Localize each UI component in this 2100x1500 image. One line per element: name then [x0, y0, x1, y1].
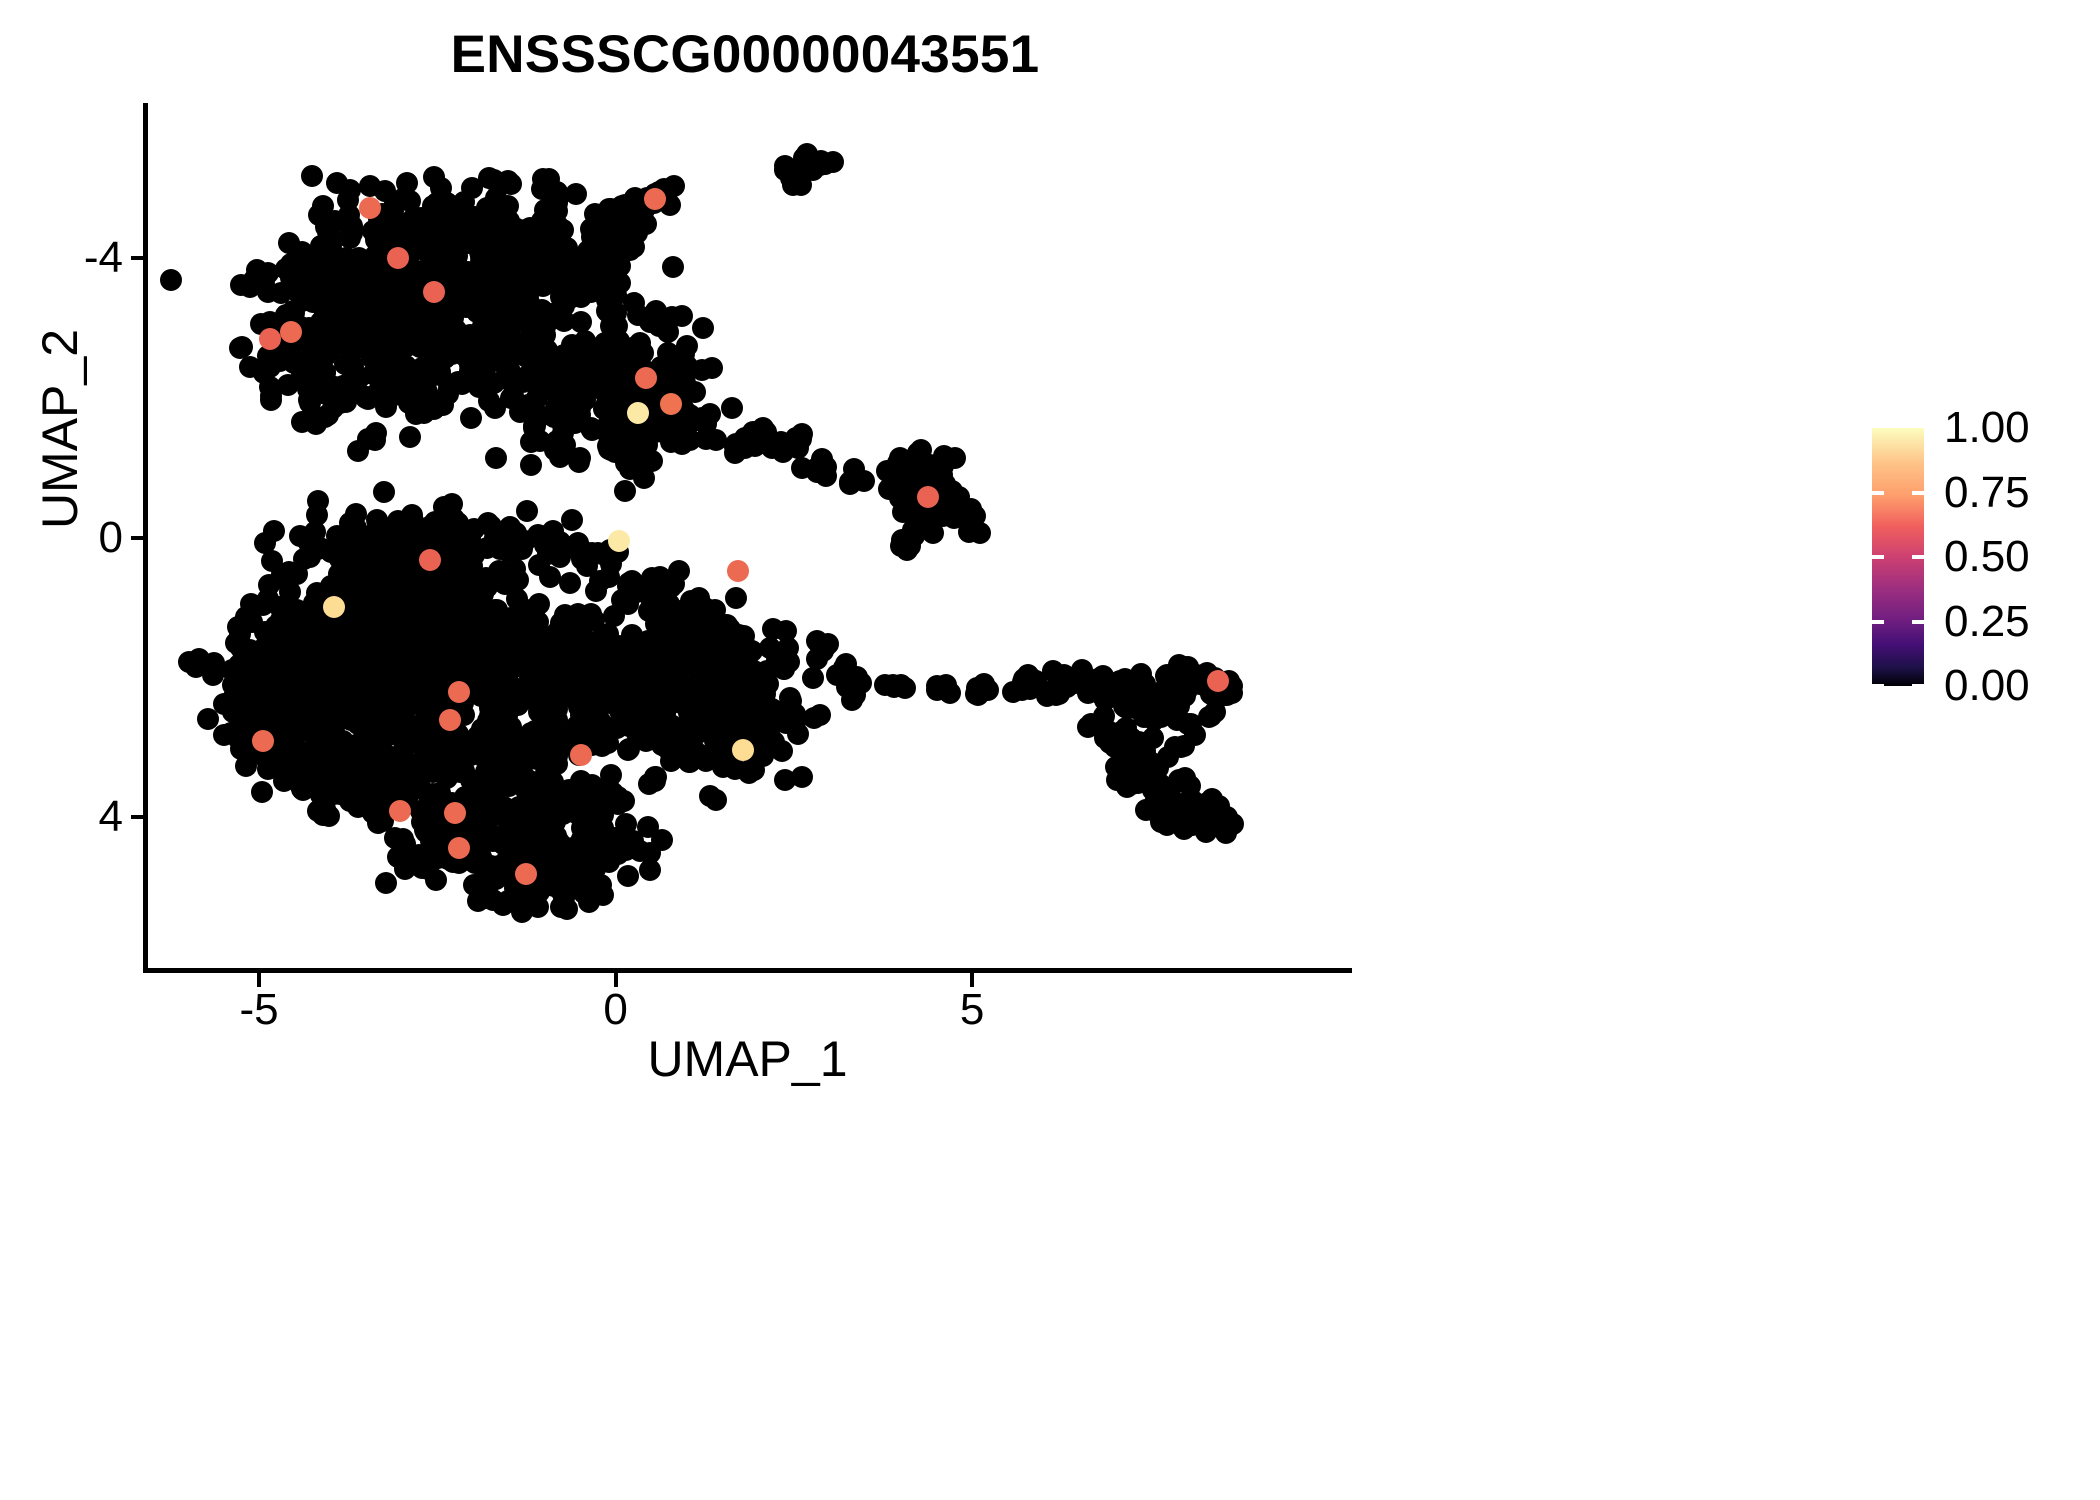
scatter-point: [635, 367, 657, 389]
scatter-point: [478, 352, 500, 374]
scatter-point: [373, 481, 395, 503]
scatter-point: [588, 805, 610, 827]
scatter-point: [391, 776, 413, 798]
scatter-point: [692, 317, 714, 339]
scatter-point: [607, 786, 629, 808]
scatter-point: [375, 396, 397, 418]
scatter-point: [260, 389, 282, 411]
scatter-point: [558, 877, 580, 899]
scatter-point: [596, 392, 618, 414]
scatter-point: [482, 204, 504, 226]
scatter-point: [412, 216, 434, 238]
scatter-point: [644, 766, 666, 788]
scatter-point: [317, 343, 339, 365]
scatter-point: [448, 681, 470, 703]
scatter-point: [1170, 736, 1192, 758]
scatter-point: [360, 346, 382, 368]
scatter-point: [353, 754, 375, 776]
scatter-point: [280, 321, 302, 343]
scatter-point: [286, 272, 308, 294]
scatter-point: [399, 426, 421, 448]
x-tick-label: -5: [199, 988, 319, 1032]
scatter-point: [203, 652, 225, 674]
colorbar-tick-label: 0.75: [1944, 471, 2094, 515]
scatter-point: [383, 196, 405, 218]
scatter-point: [732, 739, 754, 761]
scatter-point: [536, 781, 558, 803]
scatter-point: [290, 676, 312, 698]
scatter-point: [485, 447, 507, 469]
scatter-point: [707, 621, 729, 643]
scatter-point: [432, 736, 454, 758]
umap-feature-plot: ENSSSCG00000043551 40-4-505 UMAP_1 UMAP_…: [0, 0, 2100, 1500]
scatter-point: [570, 744, 592, 766]
scatter-point: [543, 706, 565, 728]
scatter-point: [489, 525, 511, 547]
scatter-point: [1168, 769, 1190, 791]
scatter-point: [374, 327, 396, 349]
colorbar-tick-label: 0.25: [1944, 600, 2094, 644]
scatter-point: [701, 357, 723, 379]
scatter-point: [410, 778, 432, 800]
scatter-point: [1204, 701, 1226, 723]
colorbar-tick-label: 1.00: [1944, 406, 2094, 450]
scatter-point: [544, 811, 566, 833]
scatter-point: [874, 674, 896, 696]
colorbar-tick-label: 0.50: [1944, 535, 2094, 579]
scatter-point: [587, 542, 609, 564]
scatter-point: [676, 335, 698, 357]
scatter-point: [252, 730, 274, 752]
x-tick-label: 0: [556, 988, 676, 1032]
scatter-point: [481, 329, 503, 351]
scatter-point: [447, 604, 469, 626]
scatter-point: [578, 891, 600, 913]
scatter-point: [782, 174, 804, 196]
scatter-point: [662, 256, 684, 278]
scatter-point: [423, 281, 445, 303]
colorbar-tick-mark: [1912, 555, 1924, 559]
scatter-point: [744, 662, 766, 684]
scatter-point: [430, 821, 452, 843]
scatter-point: [448, 837, 470, 859]
colorbar-tick-label: 0.00: [1944, 664, 2094, 708]
scatter-point: [429, 249, 451, 271]
y-tick-label: 4: [18, 795, 123, 839]
scatter-point: [374, 576, 396, 598]
scatter-point: [375, 872, 397, 894]
scatter-point: [494, 735, 516, 757]
scatter-point: [408, 331, 430, 353]
scatter-point: [477, 295, 499, 317]
scatter-point: [229, 337, 251, 359]
scatter-point: [460, 407, 482, 429]
scatter-point: [254, 532, 276, 554]
scatter-point: [441, 556, 463, 578]
scatter-point: [335, 247, 357, 269]
x-axis-line: [143, 968, 1352, 973]
scatter-point: [809, 704, 831, 726]
scatter-point: [494, 573, 516, 595]
colorbar-tick-mark: [1872, 555, 1884, 559]
y-axis-label: UMAP_2: [31, 189, 89, 669]
scatter-point: [391, 514, 413, 536]
scatter-point: [345, 517, 367, 539]
scatter-point: [575, 780, 597, 802]
scatter-point: [644, 188, 666, 210]
scatter-point: [293, 548, 315, 570]
scatter-point: [668, 560, 690, 582]
scatter-point: [308, 204, 330, 226]
colorbar-tick-mark: [1872, 684, 1884, 688]
scatter-point: [417, 304, 439, 326]
scatter-point: [538, 168, 560, 190]
scatter-point: [243, 269, 265, 291]
scatter-point: [889, 461, 911, 483]
scatter-point: [327, 620, 349, 642]
scatter-point: [939, 682, 961, 704]
scatter-point: [559, 572, 581, 594]
scatter-point: [519, 327, 541, 349]
y-tick-mark: [131, 256, 145, 260]
scatter-point: [318, 805, 340, 827]
scatter-point: [539, 566, 561, 588]
scatter-point: [811, 448, 833, 470]
scatter-point: [337, 383, 359, 405]
scatter-point: [712, 749, 734, 771]
scatter-point: [910, 512, 932, 534]
scatter-point: [596, 300, 618, 322]
scatter-point: [890, 535, 912, 557]
scatter-point: [419, 549, 441, 571]
scatter-point: [791, 457, 813, 479]
scatter-point: [357, 428, 379, 450]
scatter-point: [621, 624, 643, 646]
scatter-point: [338, 225, 360, 247]
scatter-point: [538, 661, 560, 683]
scatter-point: [917, 486, 939, 508]
y-tick-mark: [131, 815, 145, 819]
scatter-point: [705, 789, 727, 811]
scatter-point: [450, 275, 472, 297]
scatter-point: [598, 848, 620, 870]
scatter-point: [660, 393, 682, 415]
colorbar-tick-mark: [1912, 491, 1924, 495]
scatter-point: [236, 649, 258, 671]
scatter-point: [678, 751, 700, 773]
scatter-point: [306, 504, 328, 526]
scatter-point: [520, 295, 542, 317]
scatter-point: [561, 509, 583, 531]
scatter-point: [527, 896, 549, 918]
scatter-point: [641, 450, 663, 472]
scatter-point: [426, 192, 448, 214]
scatter-point: [314, 406, 336, 428]
scatter-point: [496, 832, 518, 854]
scatter-point: [659, 417, 681, 439]
scatter-point: [451, 373, 473, 395]
scatter-point: [300, 384, 322, 406]
scatter-point: [301, 165, 323, 187]
scatter-point: [966, 677, 988, 699]
scatter-point: [772, 441, 794, 463]
scatter-point: [600, 439, 622, 461]
scatter-point: [398, 715, 420, 737]
scatter-point: [312, 258, 334, 280]
scatter-point: [629, 840, 651, 862]
scatter-point: [516, 500, 538, 522]
scatter-point: [960, 519, 982, 541]
colorbar-tick-mark: [1872, 620, 1884, 624]
scatter-point: [846, 666, 868, 688]
scatter-point: [570, 311, 592, 333]
scatter-point: [291, 411, 313, 433]
scatter-point: [352, 684, 374, 706]
scatter-point: [806, 630, 828, 652]
scatter-point: [1118, 740, 1140, 762]
scatter-point: [810, 150, 832, 172]
scatter-point: [497, 170, 519, 192]
scatter-point: [725, 587, 747, 609]
scatter-point: [721, 397, 743, 419]
colorbar-tick-mark: [1872, 491, 1884, 495]
colorbar-tick-mark: [1912, 684, 1924, 688]
scatter-point: [526, 238, 548, 260]
scatter-point: [1102, 675, 1124, 697]
scatter-point: [791, 766, 813, 788]
scatter-point: [237, 690, 259, 712]
scatter-point: [617, 865, 639, 887]
scatter-point: [520, 454, 542, 476]
scatter-point: [539, 360, 561, 382]
x-tick-label: 5: [912, 988, 1032, 1032]
scatter-point: [608, 530, 630, 552]
scatter-point: [359, 197, 381, 219]
scatter-point: [853, 470, 875, 492]
scatter-point: [389, 800, 411, 822]
colorbar-tick-mark: [1912, 620, 1924, 624]
scatter-point: [715, 688, 737, 710]
scatter-point: [388, 647, 410, 669]
plot-panel: [145, 105, 1350, 970]
scatter-point: [605, 246, 627, 268]
scatter-point: [251, 781, 273, 803]
scatter-point: [310, 235, 332, 257]
scatter-point: [429, 364, 451, 386]
scatter-point: [524, 627, 546, 649]
scatter-point: [259, 328, 281, 350]
scatter-point: [347, 791, 369, 813]
scatter-point: [315, 672, 337, 694]
scatter-point: [1013, 678, 1035, 700]
scatter-point: [802, 667, 824, 689]
scatter-point: [639, 859, 661, 881]
scatter-point: [537, 543, 559, 565]
scatter-point: [778, 651, 800, 673]
y-tick-mark: [131, 536, 145, 540]
scatter-point: [727, 560, 749, 582]
scatter-point: [423, 633, 445, 655]
scatter-point: [565, 802, 587, 824]
scatter-point: [1207, 670, 1229, 692]
scatter-point: [614, 480, 636, 502]
scatter-point: [160, 269, 182, 291]
scatter-point: [528, 593, 550, 615]
scatter-point: [571, 618, 593, 640]
x-axis-label: UMAP_1: [145, 1030, 1350, 1088]
scatter-point: [546, 190, 568, 212]
page-title: ENSSSCG00000043551: [0, 26, 1490, 84]
scatter-point: [664, 357, 686, 379]
scatter-point: [651, 829, 673, 851]
scatter-point: [752, 745, 774, 767]
scatter-point: [496, 616, 518, 638]
scatter-point: [661, 306, 683, 328]
scatter-point: [334, 546, 356, 568]
colorbar-legend: 1.000.750.500.250.00: [1872, 428, 2092, 690]
scatter-point: [1155, 665, 1177, 687]
